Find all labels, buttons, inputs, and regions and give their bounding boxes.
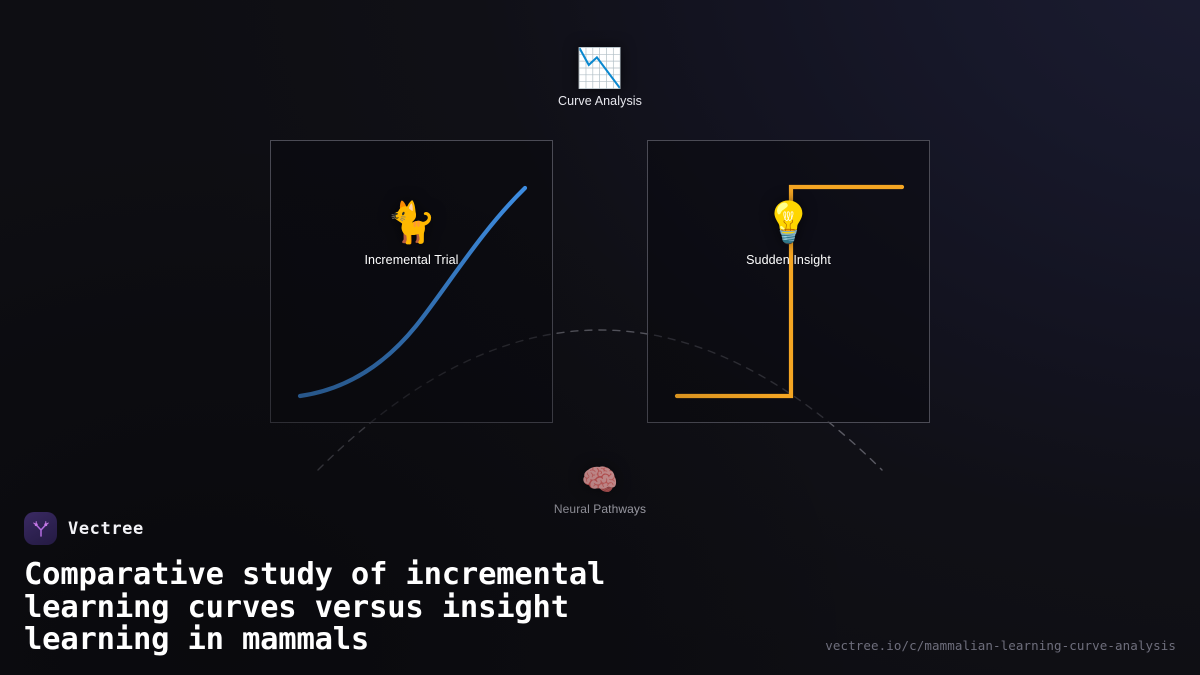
panel-incremental-node: 🐈 Incremental Trial [364, 203, 458, 267]
chart-decreasing-icon: 📉 [576, 50, 623, 88]
cat-icon: 🐈 [387, 203, 437, 243]
light-bulb-icon: 💡 [764, 203, 814, 243]
vectree-logo-icon [24, 512, 57, 545]
panel-sudden-insight[interactable]: 💡 Sudden Insight [647, 140, 930, 423]
brand-name: Vectree [68, 519, 144, 539]
panel-insight-label: Sudden Insight [746, 253, 831, 267]
source-url: vectree.io/c/mammalian-learning-curve-an… [825, 638, 1176, 653]
panel-incremental-label: Incremental Trial [364, 253, 458, 267]
infographic-canvas: 📉 Curve Analysis 🐈 Incremental Trial 💡 S… [0, 0, 1200, 675]
insight-step-chart [647, 140, 932, 425]
node-neural-pathways[interactable]: 🧠 Neural Pathways [554, 466, 646, 516]
brand-row[interactable]: Vectree [24, 512, 1176, 545]
brain-icon: 🧠 [581, 466, 618, 496]
node-curve-analysis[interactable]: 📉 Curve Analysis [558, 50, 642, 108]
panel-incremental-trial[interactable]: 🐈 Incremental Trial [270, 140, 553, 423]
incremental-curve-chart [270, 140, 555, 425]
node-curve-analysis-label: Curve Analysis [558, 94, 642, 108]
panel-insight-node: 💡 Sudden Insight [746, 203, 831, 267]
tree-branch-icon [31, 519, 51, 539]
footer: Vectree Comparative study of incremental… [0, 512, 1200, 675]
headline: Comparative study of incremental learnin… [24, 559, 764, 657]
